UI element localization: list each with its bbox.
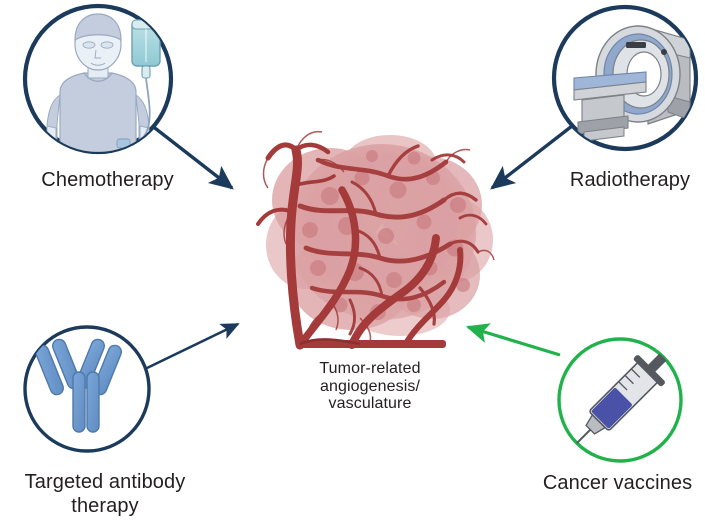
chemotherapy-label: Chemotherapy [10, 168, 205, 192]
arrow-antibody-to-center [147, 324, 238, 368]
node-radiotherapy[interactable] [554, 7, 696, 149]
arrow-vaccine-to-center [468, 327, 560, 355]
node-chemotherapy[interactable] [25, 6, 171, 152]
targeted-antibody-therapy-label: Targeted antibody therapy [0, 470, 210, 518]
node-targeted-antibody-therapy[interactable] [25, 327, 149, 451]
diagram-canvas: Chemotherapy Radiotherapy Targeted antib… [0, 0, 705, 531]
diagram-svg [0, 0, 705, 531]
tumor-vasculature-label: Tumor-related angiogenesis/ vasculature [292, 360, 448, 413]
node-cancer-vaccines[interactable] [554, 332, 688, 466]
radiotherapy-label: Radiotherapy [555, 168, 705, 192]
cancer-vaccines-label: Cancer vaccines [530, 471, 705, 495]
tumor-vasculature-illustration [258, 132, 494, 348]
